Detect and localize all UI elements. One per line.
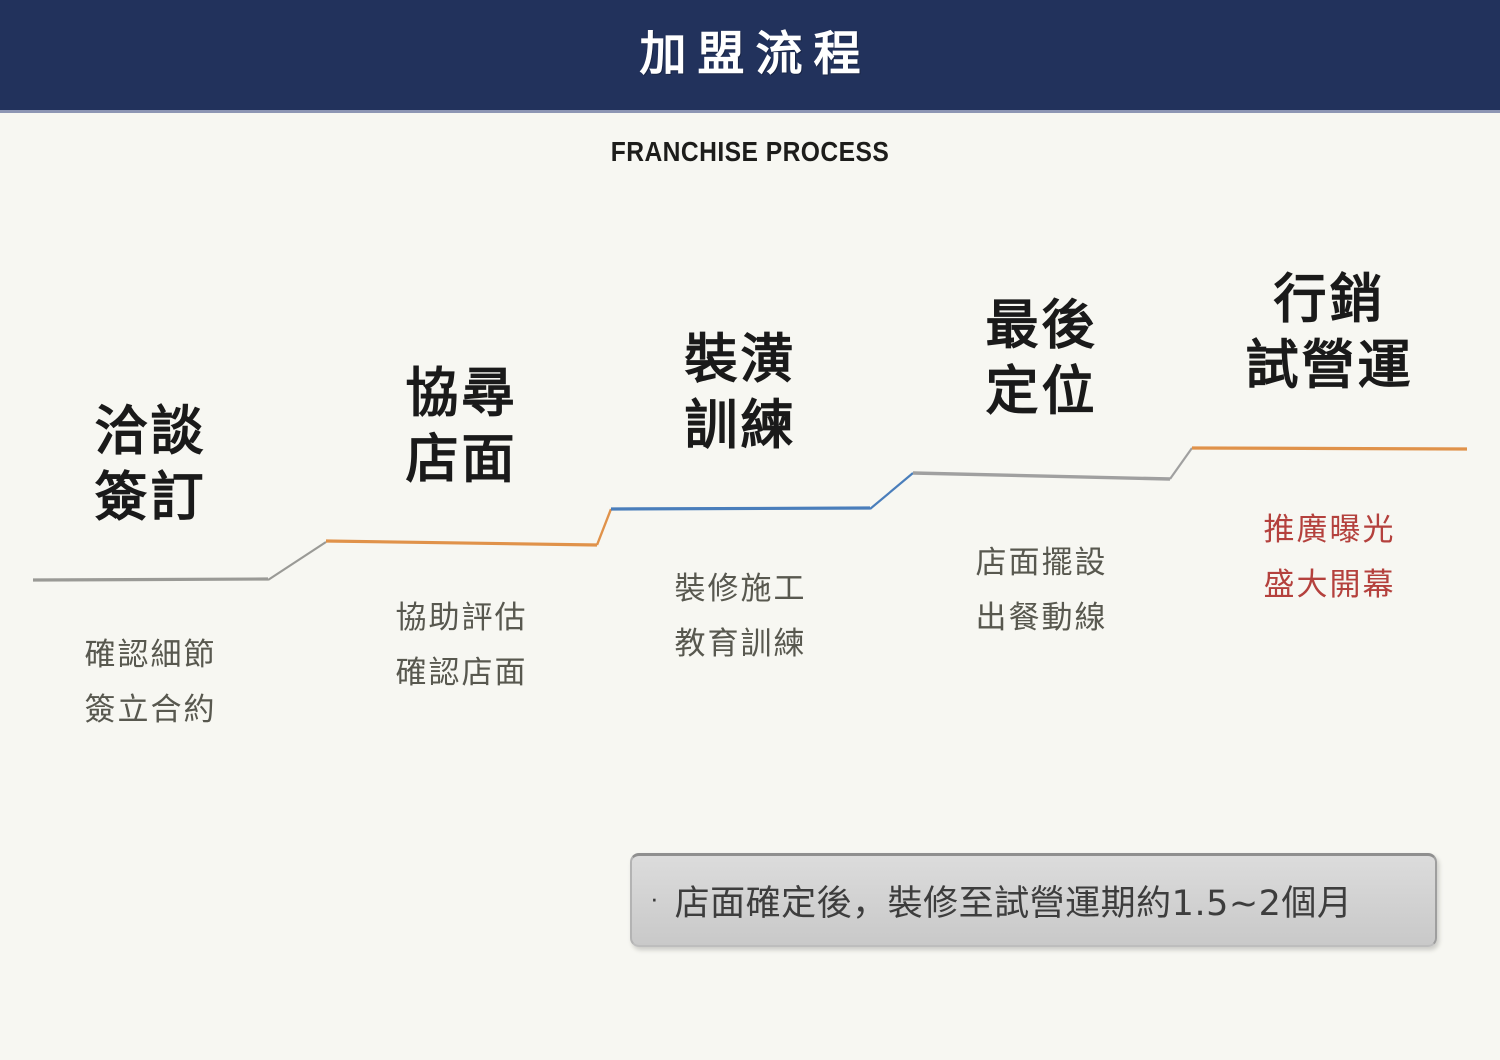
process-step-3-detail: 裝修施工 教育訓練 — [611, 562, 870, 672]
step-1-sub-line-1: 確認細節 — [33, 628, 268, 683]
step-3-title: 裝潢 訓練 — [611, 326, 870, 458]
connector-riser-step-2-to-3 — [597, 509, 611, 545]
step-4-sub-line-2: 出餐動線 — [913, 591, 1170, 646]
connector-riser-step-1-to-2 — [268, 542, 326, 580]
step-5-title-line-1: 行銷 — [1192, 266, 1467, 332]
connector-line-step-5 — [1192, 448, 1467, 449]
process-step-5-detail: 推廣曝光 盛大開幕 — [1192, 503, 1467, 613]
step-2-title: 協尋 店面 — [326, 360, 597, 492]
step-1-title-line-1: 洽談 — [33, 398, 268, 464]
connector-line-step-3 — [611, 508, 870, 509]
step-5-title-line-2: 試營運 — [1192, 332, 1467, 398]
step-2-sub-line-2: 確認店面 — [326, 646, 597, 701]
step-1-title-line-2: 簽訂 — [33, 464, 268, 530]
step-4-title-line-1: 最後 — [913, 292, 1170, 358]
step-5-sub-line-1: 推廣曝光 — [1192, 503, 1467, 558]
step-2-sub-line-1: 協助評估 — [326, 591, 597, 646]
process-step-2-detail: 協助評估 確認店面 — [326, 591, 597, 701]
connector-line-step-2 — [326, 541, 597, 545]
connector-line-step-4 — [913, 473, 1170, 479]
step-5-sub-line-2: 盛大開幕 — [1192, 558, 1467, 613]
step-2-title-line-2: 店面 — [326, 426, 597, 492]
step-4-title: 最後 定位 — [913, 292, 1170, 424]
connector-riser-step-3-to-4 — [870, 473, 913, 509]
process-step-1-detail: 確認細節 簽立合約 — [33, 628, 268, 738]
step-2-title-line-1: 協尋 — [326, 360, 597, 426]
process-step-2[interactable]: 協尋 店面 — [326, 360, 597, 492]
connector-line-step-1 — [33, 579, 268, 580]
step-3-title-line-2: 訓練 — [611, 392, 870, 458]
step-1-sub-line-2: 簽立合約 — [33, 683, 268, 738]
page-title: 加盟流程 — [0, 24, 1500, 86]
process-step-4-detail: 店面擺設 出餐動線 — [913, 536, 1170, 646]
process-step-1[interactable]: 洽談 簽訂 — [33, 398, 268, 530]
step-1-title: 洽談 簽訂 — [33, 398, 268, 530]
connector-riser-step-4-to-5 — [1170, 448, 1192, 479]
bullet-icon: · — [650, 885, 659, 911]
step-3-sub-line-2: 教育訓練 — [611, 617, 870, 672]
page-subtitle: FRANCHISE PROCESS — [90, 136, 1410, 168]
note-callout-box: · 店面確定後，裝修至試營運期約1.5~2個月 — [630, 853, 1437, 947]
step-5-title: 行銷 試營運 — [1192, 266, 1467, 398]
step-4-title-line-2: 定位 — [913, 358, 1170, 424]
note-text: 店面確定後，裝修至試營運期約1.5~2個月 — [675, 875, 1353, 926]
step-3-title-line-1: 裝潢 — [611, 326, 870, 392]
step-4-sub-line-1: 店面擺設 — [913, 536, 1170, 591]
process-step-5[interactable]: 行銷 試營運 — [1192, 266, 1467, 398]
process-step-3[interactable]: 裝潢 訓練 — [611, 326, 870, 458]
process-step-4[interactable]: 最後 定位 — [913, 292, 1170, 424]
header-bar: 加盟流程 — [0, 0, 1500, 113]
step-3-sub-line-1: 裝修施工 — [611, 562, 870, 617]
